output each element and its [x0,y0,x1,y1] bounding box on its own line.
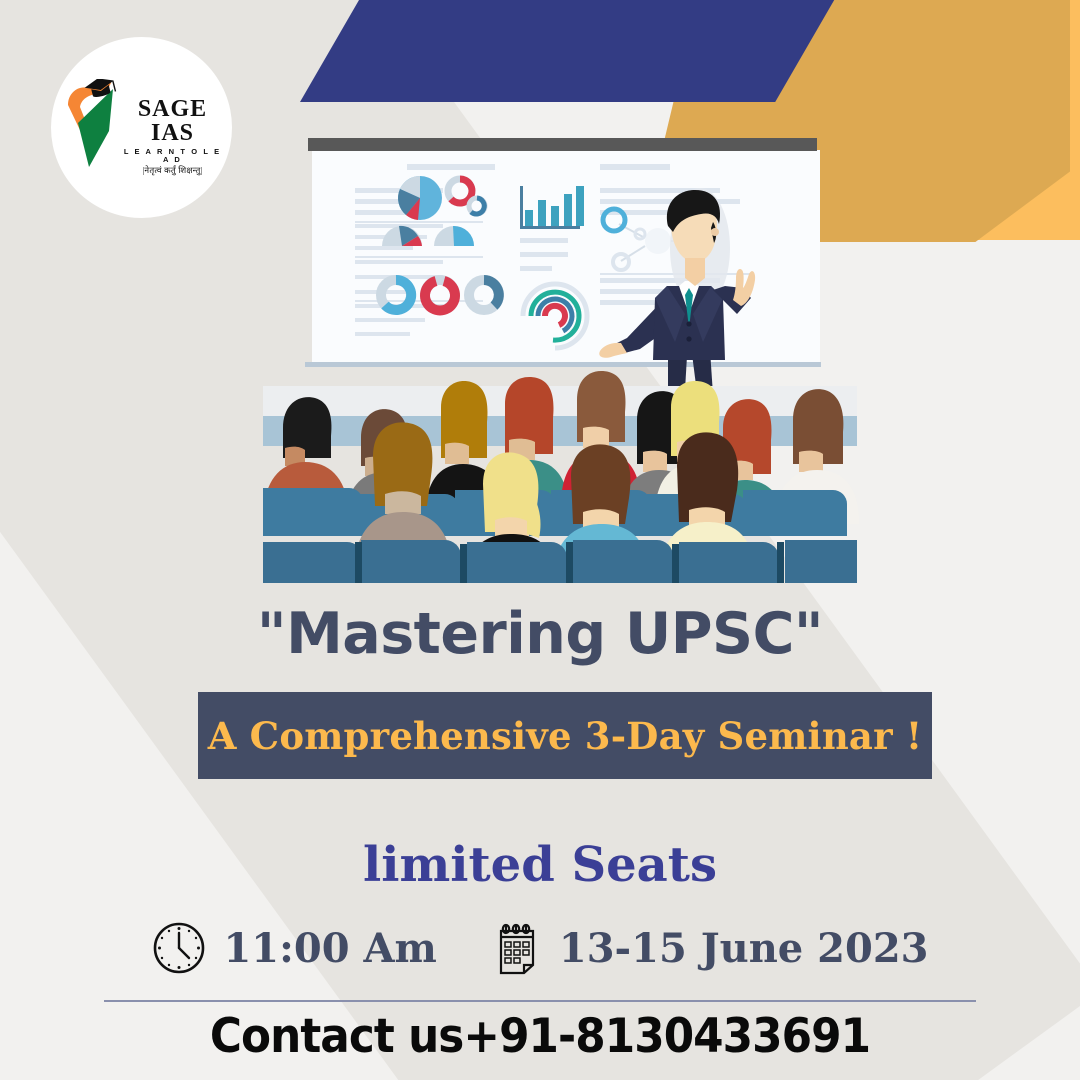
event-meta-row: 11:00 Am 13-15 June 202 [0,920,1080,976]
seminar-illustration [255,128,865,583]
event-date: 13-15 June 2023 [491,921,929,975]
event-time: 11:00 Am [151,920,436,976]
audience [263,371,859,583]
footer-divider [104,1000,976,1002]
event-time-value: 11:00 Am [223,925,436,972]
logo-badge: SAGE IAS L E A R N T O L E A D |नेतृत्वं… [51,37,232,218]
logo-tagline: L E A R N T O L E A D [124,148,222,163]
page-title: "Mastering UPSC" [0,601,1080,667]
limited-seats-text: limited Seats [0,837,1080,893]
logo-sanskrit-tagline: |नेतृत्वं कर्तुं शिक्षन्तु| [124,166,222,175]
logo-wordmark: SAGE IAS L E A R N T O L E A D |नेतृत्वं… [124,97,222,175]
event-date-value: 13-15 June 2023 [559,925,929,972]
logo-inner: SAGE IAS L E A R N T O L E A D |नेतृत्वं… [62,75,222,180]
contact-text: Contact us+91-8130433691 [38,1009,1042,1064]
subtitle-banner: A Comprehensive 3-Day Seminar ! [198,692,932,779]
navy-parallelogram-shape [300,0,840,102]
graduation-cap-checkmark-icon [64,79,124,167]
calendar-icon [491,921,543,975]
poster-canvas: SAGE IAS L E A R N T O L E A D |नेतृत्वं… [0,0,1080,1080]
subtitle-banner-text: A Comprehensive 3-Day Seminar ! [208,714,923,758]
logo-title: SAGE IAS [124,97,222,145]
clock-icon [151,920,207,976]
